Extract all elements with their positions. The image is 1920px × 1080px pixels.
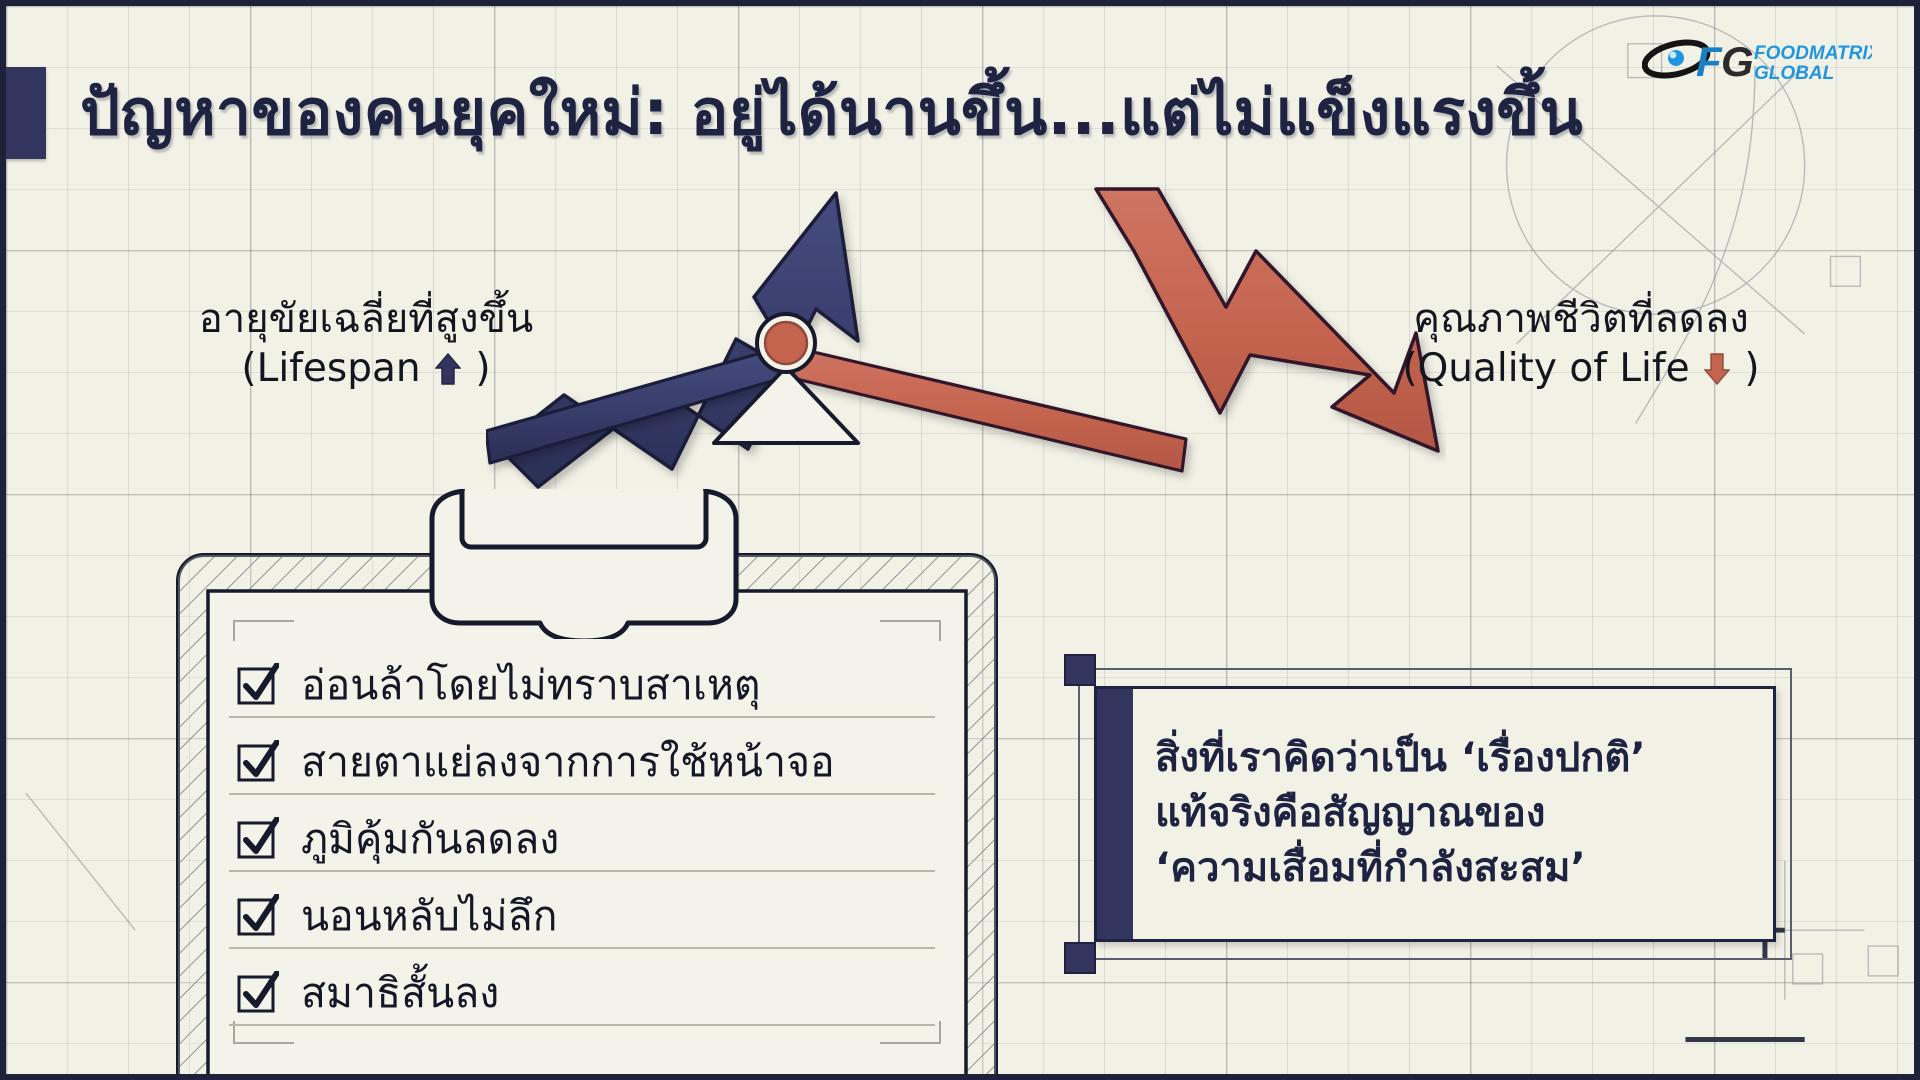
list-item[interactable]: สายตาแย่ลงจากการใช้หน้าจอ: [229, 718, 935, 795]
label-quality-thai: คุณภาพชีวิตที่ลดลง: [1346, 294, 1816, 344]
logo-letter-g: G: [1721, 38, 1754, 85]
clipboard: อ่อนล้าโดยไม่ทราบสาเหตุ สายตาแย่ลงจากการ…: [174, 551, 1000, 1080]
checkbox-checked-icon[interactable]: [237, 971, 279, 1015]
label-lifespan-english: (Lifespan ): [126, 344, 606, 395]
label-lifespan: อายุขัยเฉลี่ยที่สูงขึ้น (Lifespan ): [126, 294, 606, 395]
list-item-label: อ่อนล้าโดยไม่ทราบสาเหตุ: [301, 664, 761, 707]
callout-line-2: แท้จริงคือสัญญาณของ: [1155, 786, 1755, 841]
checkbox-checked-icon[interactable]: [237, 817, 279, 861]
list-item[interactable]: อ่อนล้าโดยไม่ทราบสาเหตุ: [229, 641, 935, 718]
label-quality: คุณภาพชีวิตที่ลดลง (Quality of Life ): [1346, 294, 1816, 395]
list-item-label: สมาธิสั้นลง: [301, 972, 499, 1015]
label-quality-en-text: (Quality of Life: [1402, 346, 1702, 391]
logo-letter-f: F: [1696, 38, 1723, 85]
label-quality-en-tail: ): [1744, 346, 1759, 391]
logo-line1: FOODMATRIX: [1754, 43, 1872, 64]
label-lifespan-thai: อายุขัยเฉลี่ยที่สูงขึ้น: [126, 294, 606, 344]
up-arrow-icon: [435, 353, 461, 385]
down-arrow-icon: [1704, 353, 1730, 385]
callout-line-3: ‘ความเสื่อมที่กำลังสะสม’: [1155, 842, 1755, 897]
beam-right: [788, 347, 1186, 471]
list-item-label: นอนหลับไม่ลึก: [301, 895, 557, 938]
checkbox-checked-icon[interactable]: [237, 740, 279, 784]
callout: สิ่งที่เราคิดว่าเป็น ‘เรื่องปกติ’ แท้จริ…: [1066, 668, 1792, 960]
callout-handle-bottom-left: [1064, 942, 1096, 974]
clipboard-clip-icon: [414, 489, 754, 639]
title-row: ปัญหาของคนยุคใหม่: อยู่ได้นานขึ้น...แต่ไ…: [6, 58, 1456, 168]
brand-logo: F G FOODMATRIX GLOBAL: [1642, 32, 1872, 94]
list-item-label: ภูมิคุ้มกันลดลง: [301, 818, 559, 861]
callout-handle-top-left: [1064, 654, 1096, 686]
slide-root: ปัญหาของคนยุคใหม่: อยู่ได้นานขึ้น...แต่ไ…: [0, 0, 1920, 1080]
callout-line-1: สิ่งที่เราคิดว่าเป็น ‘เรื่องปกติ’: [1155, 731, 1755, 786]
logo-line2: GLOBAL: [1754, 63, 1834, 84]
pivot-dot: [765, 322, 807, 364]
checkbox-checked-icon[interactable]: [237, 663, 279, 707]
list-item-label: สายตาแย่ลงจากการใช้หน้าจอ: [301, 741, 835, 784]
callout-text: สิ่งที่เราคิดว่าเป็น ‘เรื่องปกติ’ แท้จริ…: [1155, 731, 1755, 897]
callout-box: สิ่งที่เราคิดว่าเป็น ‘เรื่องปกติ’ แท้จริ…: [1094, 686, 1776, 942]
clipboard-checklist: อ่อนล้าโดยไม่ทราบสาเหตุ สายตาแย่ลงจากการ…: [229, 641, 935, 1026]
page-title: ปัญหาของคนยุคใหม่: อยู่ได้นานขึ้น...แต่ไ…: [80, 77, 1583, 149]
list-item[interactable]: ภูมิคุ้มกันลดลง: [229, 795, 935, 872]
list-item[interactable]: นอนหลับไม่ลึก: [229, 872, 935, 949]
title-accent-bar: [6, 67, 46, 159]
label-quality-english: (Quality of Life ): [1346, 344, 1816, 395]
list-item[interactable]: สมาธิสั้นลง: [229, 949, 935, 1026]
label-lifespan-en-tail: ): [475, 346, 490, 391]
callout-accent-bar: [1097, 689, 1133, 939]
label-lifespan-en-text: (Lifespan: [241, 346, 433, 391]
checkbox-checked-icon[interactable]: [237, 894, 279, 938]
